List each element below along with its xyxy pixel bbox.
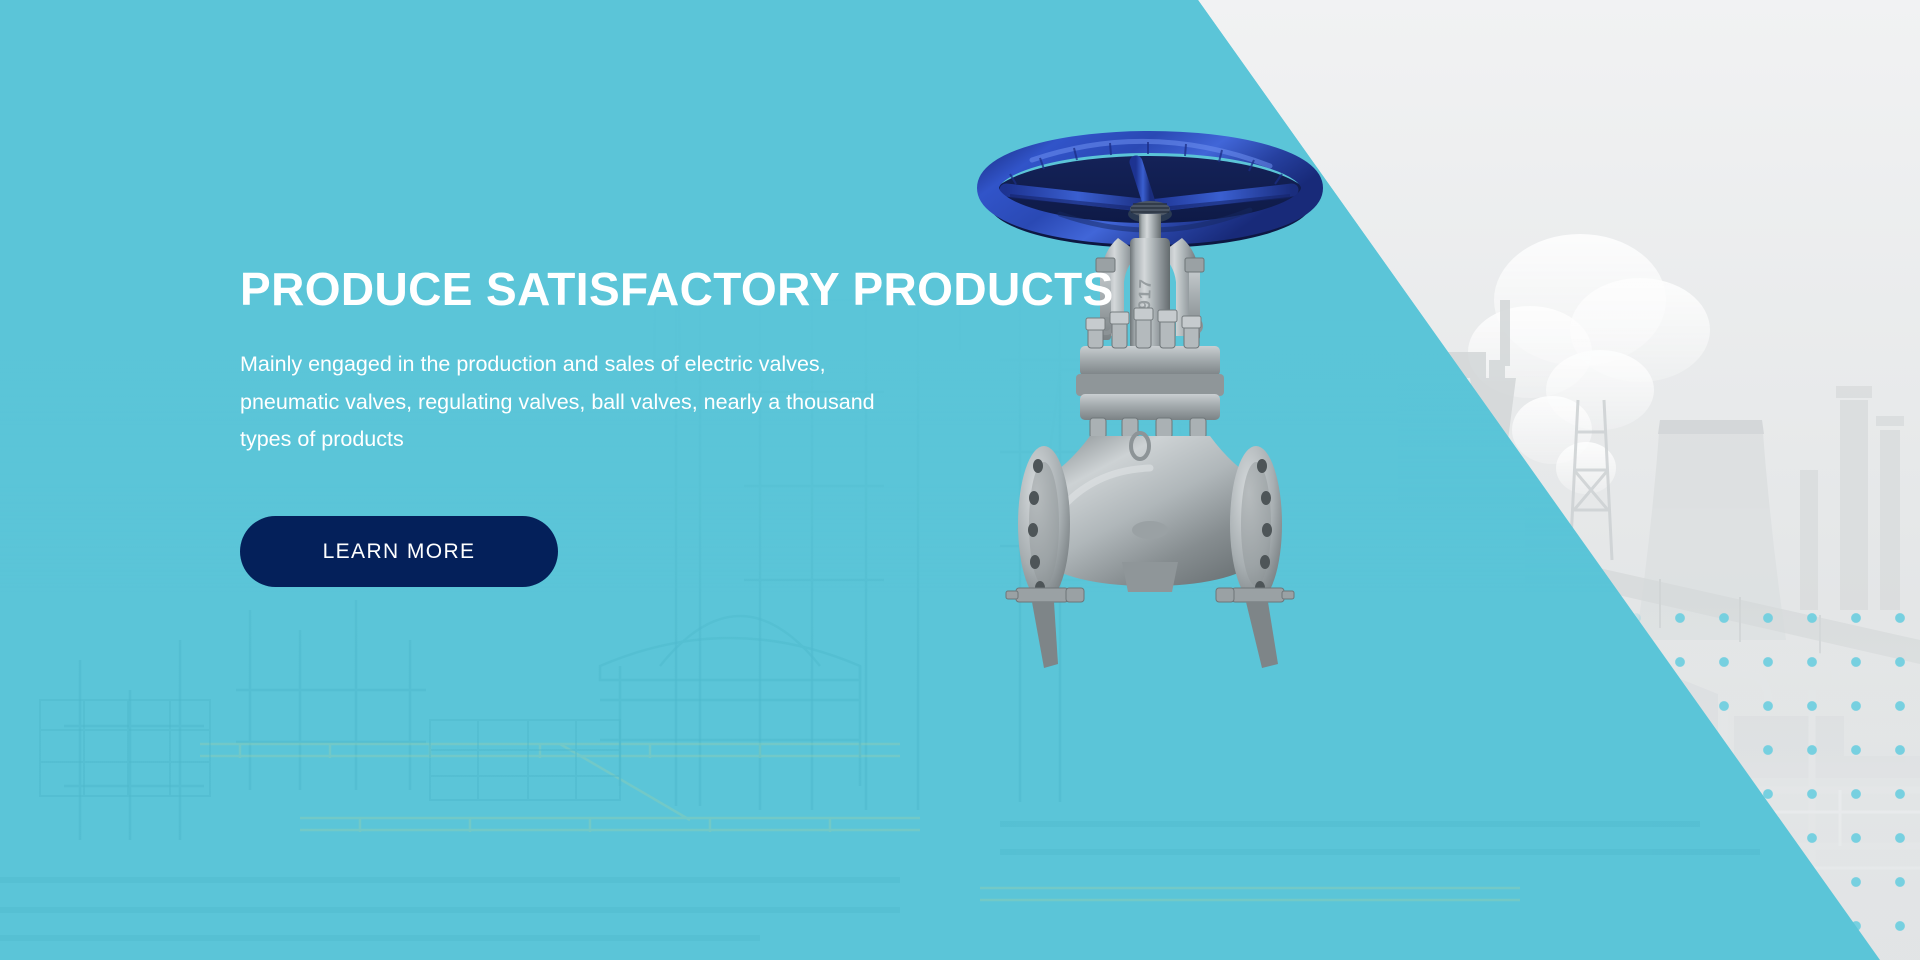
hero-content: PRODUCE SATISFACTORY PRODUCTS Mainly eng… — [240, 262, 1000, 587]
globe-valve-product-image: K4917 — [940, 110, 1360, 690]
hero-description: Mainly engaged in the production and sal… — [240, 346, 900, 458]
learn-more-button[interactable]: LEARN MORE — [240, 516, 558, 587]
page-title: PRODUCE SATISFACTORY PRODUCTS — [240, 262, 1000, 316]
hero-banner: K4917 — [0, 0, 1920, 960]
